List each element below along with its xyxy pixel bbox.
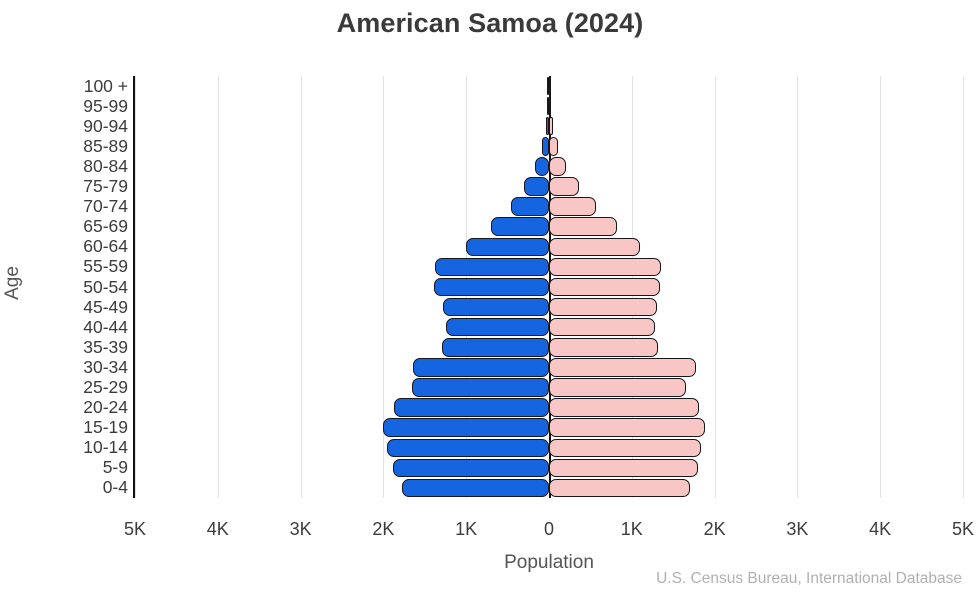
bar-female-55to59[interactable] bbox=[549, 258, 661, 276]
bar-female-40to44[interactable] bbox=[549, 318, 655, 336]
bar-male-10to14[interactable] bbox=[387, 439, 549, 457]
bar-female-5to9[interactable] bbox=[549, 459, 698, 477]
bar-male-50to54[interactable] bbox=[434, 278, 549, 296]
y-axis-title: Age bbox=[2, 248, 24, 318]
page-title: American Samoa (2024) bbox=[0, 8, 980, 39]
x-tick-label: 1K bbox=[621, 519, 643, 540]
bar-female-80to84[interactable] bbox=[549, 157, 566, 175]
gridline bbox=[963, 76, 964, 498]
bar-row bbox=[135, 117, 963, 135]
bar-row bbox=[135, 157, 963, 175]
bar-female-100[interactable] bbox=[549, 77, 551, 95]
bar-male-85to89[interactable] bbox=[542, 137, 549, 155]
bar-row bbox=[135, 278, 963, 296]
x-tick-label: 3K bbox=[290, 519, 312, 540]
x-tick-label: 0 bbox=[544, 519, 554, 540]
x-tick-label: 4K bbox=[207, 519, 229, 540]
x-tick-label: 3K bbox=[786, 519, 808, 540]
bar-row bbox=[135, 378, 963, 396]
bar-female-85to89[interactable] bbox=[549, 137, 558, 155]
bar-female-95to99[interactable] bbox=[549, 97, 551, 115]
bar-row bbox=[135, 418, 963, 436]
bar-female-15to19[interactable] bbox=[549, 418, 705, 436]
population-pyramid-chart: American Samoa (2024) 0-45-910-1415-1920… bbox=[0, 0, 980, 600]
bar-male-80to84[interactable] bbox=[535, 157, 549, 175]
bar-female-45to49[interactable] bbox=[549, 298, 657, 316]
bar-row bbox=[135, 258, 963, 276]
bar-male-5to9[interactable] bbox=[393, 459, 549, 477]
bar-female-90to94[interactable] bbox=[549, 117, 553, 135]
y-tick-label: 80-84 bbox=[18, 158, 128, 176]
bar-row bbox=[135, 398, 963, 416]
bar-female-30to34[interactable] bbox=[549, 358, 696, 376]
bar-row bbox=[135, 177, 963, 195]
bar-male-40to44[interactable] bbox=[446, 318, 550, 336]
bar-male-35to39[interactable] bbox=[442, 338, 549, 356]
y-tick-label: 30-34 bbox=[18, 359, 128, 377]
bar-female-35to39[interactable] bbox=[549, 338, 658, 356]
y-tick-label: 5-9 bbox=[18, 459, 128, 477]
bar-row bbox=[135, 459, 963, 477]
bar-male-20to24[interactable] bbox=[394, 398, 549, 416]
bar-female-70to74[interactable] bbox=[549, 197, 596, 215]
bar-male-45to49[interactable] bbox=[443, 298, 549, 316]
bar-male-0to4[interactable] bbox=[402, 479, 549, 497]
bar-row bbox=[135, 97, 963, 115]
x-axis-tick-labels: 5K4K3K2K1K01K2K3K4K5K bbox=[135, 519, 963, 545]
y-tick-label: 95-99 bbox=[18, 98, 128, 116]
bar-row bbox=[135, 137, 963, 155]
x-tick-label: 5K bbox=[124, 519, 146, 540]
plot-area bbox=[135, 76, 963, 498]
source-attribution: U.S. Census Bureau, International Databa… bbox=[656, 570, 962, 588]
bar-row bbox=[135, 479, 963, 497]
x-tick-label: 5K bbox=[952, 519, 974, 540]
y-tick-label: 45-49 bbox=[18, 299, 128, 317]
y-tick-label: 100 + bbox=[18, 78, 128, 96]
bar-female-50to54[interactable] bbox=[549, 278, 660, 296]
bar-female-20to24[interactable] bbox=[549, 398, 699, 416]
bar-female-75to79[interactable] bbox=[549, 177, 579, 195]
y-tick-label: 70-74 bbox=[18, 198, 128, 216]
y-tick-label: 35-39 bbox=[18, 339, 128, 357]
x-tick-label: 1K bbox=[455, 519, 477, 540]
bar-male-75to79[interactable] bbox=[524, 177, 549, 195]
bar-row bbox=[135, 358, 963, 376]
bar-male-60to64[interactable] bbox=[466, 238, 549, 256]
bar-female-0to4[interactable] bbox=[549, 479, 690, 497]
y-axis-tick-labels: 0-45-910-1415-1920-2425-2930-3435-3940-4… bbox=[10, 76, 128, 498]
bar-female-65to69[interactable] bbox=[549, 217, 617, 235]
bar-male-55to59[interactable] bbox=[435, 258, 549, 276]
y-tick-label: 25-29 bbox=[18, 379, 128, 397]
x-tick-label: 2K bbox=[704, 519, 726, 540]
bar-row bbox=[135, 217, 963, 235]
bar-female-60to64[interactable] bbox=[549, 238, 640, 256]
bar-row bbox=[135, 318, 963, 336]
bar-row bbox=[135, 77, 963, 95]
y-tick-label: 60-64 bbox=[18, 238, 128, 256]
y-tick-label: 85-89 bbox=[18, 138, 128, 156]
y-tick-label: 20-24 bbox=[18, 399, 128, 417]
bar-male-30to34[interactable] bbox=[413, 358, 549, 376]
y-tick-label: 40-44 bbox=[18, 319, 128, 337]
y-tick-label: 15-19 bbox=[18, 419, 128, 437]
bar-row bbox=[135, 238, 963, 256]
y-tick-label: 75-79 bbox=[18, 178, 128, 196]
y-tick-label: 55-59 bbox=[18, 258, 128, 276]
bar-row bbox=[135, 298, 963, 316]
bar-row bbox=[135, 197, 963, 215]
y-tick-label: 10-14 bbox=[18, 439, 128, 457]
bar-row bbox=[135, 338, 963, 356]
x-tick-label: 2K bbox=[372, 519, 394, 540]
y-tick-label: 0-4 bbox=[18, 479, 128, 497]
y-tick-label: 65-69 bbox=[18, 218, 128, 236]
y-tick-label: 50-54 bbox=[18, 279, 128, 297]
bar-row bbox=[135, 439, 963, 457]
x-tick-label: 4K bbox=[869, 519, 891, 540]
y-tick-label: 90-94 bbox=[18, 118, 128, 136]
bar-male-15to19[interactable] bbox=[383, 418, 549, 436]
bar-female-10to14[interactable] bbox=[549, 439, 701, 457]
bar-male-70to74[interactable] bbox=[511, 197, 549, 215]
bar-male-65to69[interactable] bbox=[491, 217, 549, 235]
bar-male-25to29[interactable] bbox=[412, 378, 549, 396]
bar-female-25to29[interactable] bbox=[549, 378, 686, 396]
